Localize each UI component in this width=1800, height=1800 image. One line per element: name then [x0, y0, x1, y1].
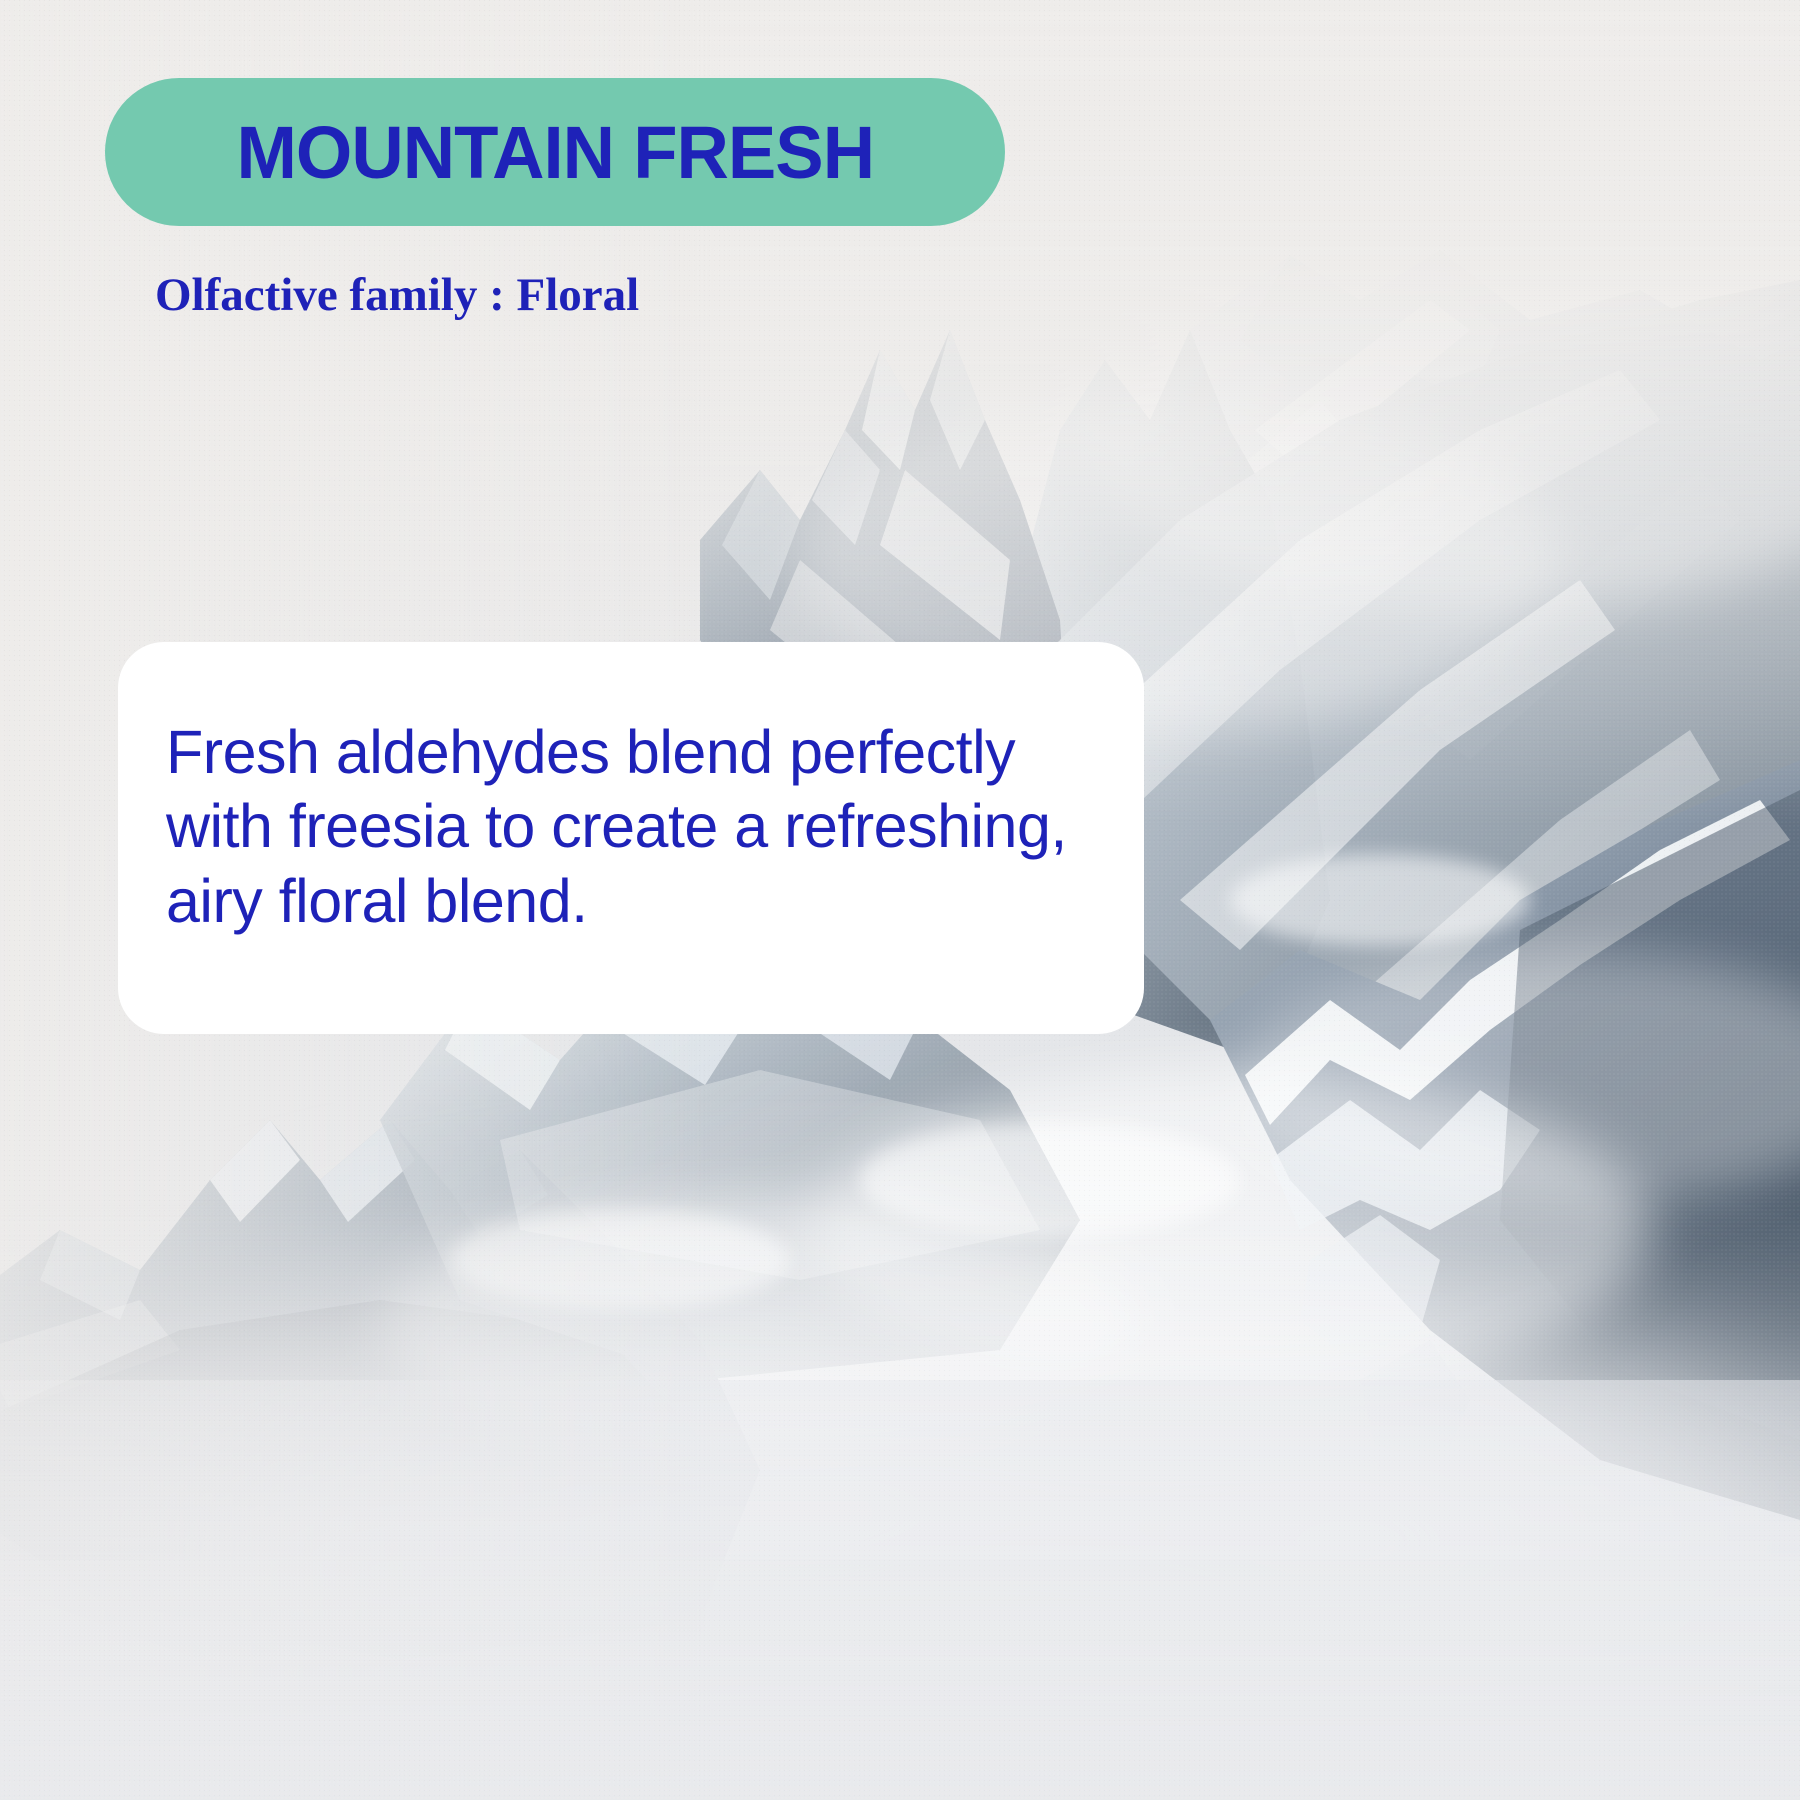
poster-canvas: MOUNTAIN FRESH Olfactive family : Floral…	[0, 0, 1800, 1800]
badge-title: MOUNTAIN FRESH	[236, 110, 874, 195]
description-text: Fresh aldehydes blend perfectly with fre…	[166, 715, 1116, 938]
mountain-fresh-badge: MOUNTAIN FRESH	[105, 78, 1005, 226]
olfactive-family-subtitle: Olfactive family : Floral	[155, 268, 639, 322]
description-card: Fresh aldehydes blend perfectly with fre…	[118, 642, 1144, 1034]
